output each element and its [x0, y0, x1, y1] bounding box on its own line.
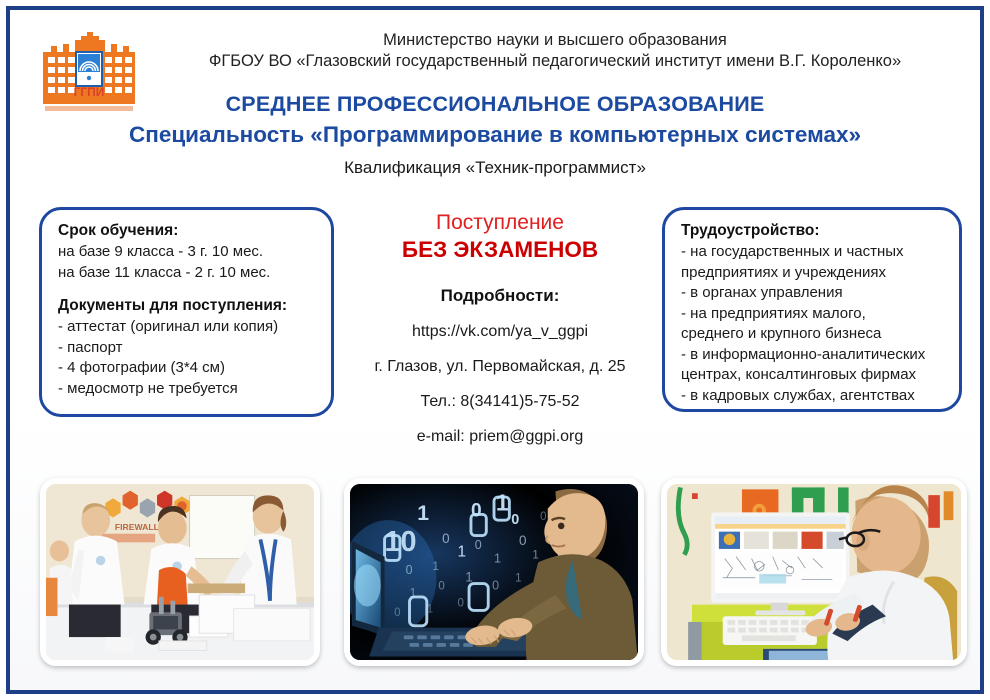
study-term-line: на базе 11 класса - 2 г. 10 мес. [58, 263, 317, 284]
documents-heading: Документы для поступления: [58, 297, 317, 315]
svg-text:0: 0 [442, 531, 449, 546]
poster-root: ГГПИ Министерство науки и высшего образо… [0, 0, 990, 700]
details-heading: Подробности: [350, 286, 650, 306]
employment-item: предприятиях и учреждениях [681, 263, 945, 284]
page-title: СРЕДНЕЕ ПРОФЕССИОНАЛЬНОЕ ОБРАЗОВАНИЕ [10, 92, 980, 117]
svg-text:0: 0 [511, 512, 519, 528]
svg-text:0: 0 [438, 580, 444, 592]
qualification-subtitle: Квалификация «Техник-программист» [10, 158, 980, 178]
svg-text:1: 1 [417, 502, 429, 525]
ministry-line-1: Министерство науки и высшего образования [150, 30, 960, 51]
employment-item: среднего и крупного бизнеса [681, 324, 945, 345]
study-info-box: Срок обучения: на базе 9 класса - 3 г. 1… [39, 207, 334, 417]
specialty-title: Специальность «Программирование в компью… [10, 122, 980, 148]
employment-item: - в кадровых службах, агентствах [681, 386, 945, 407]
phone-text: Тел.: 8(34141)5-75-52 [350, 393, 650, 411]
employment-item: - в органах управления [681, 283, 945, 304]
svg-text:0: 0 [471, 500, 482, 521]
svg-text:FIREWALL: FIREWALL [115, 522, 159, 532]
email-text[interactable]: e-mail: priem@ggpi.org [350, 428, 650, 446]
study-term-heading: Срок обучения: [58, 222, 317, 240]
document-item: - медосмотр не требуется [58, 379, 317, 400]
employment-item: - на предприятиях малого, [681, 304, 945, 325]
document-item: - паспорт [58, 338, 317, 359]
photo-programmer-binary: 1 10 0 1 0 0 1 0 1 0 1 0 1 1 0 [344, 478, 644, 666]
svg-text:1: 1 [496, 490, 509, 516]
study-term-line: на базе 9 класса - 3 г. 10 мес. [58, 242, 317, 263]
svg-text:0: 0 [475, 538, 482, 552]
document-item: - аттестат (оригинал или копия) [58, 317, 317, 338]
svg-text:0: 0 [458, 598, 464, 610]
employment-heading: Трудоустройство: [681, 222, 945, 240]
svg-text:1: 1 [532, 550, 538, 562]
ministry-line-2: ФГБОУ ВО «Глазовский государственный пед… [150, 51, 960, 72]
photo-strip: FIREWALL [10, 478, 980, 678]
admission-label: Поступление [350, 210, 650, 236]
photo-student-monitor [661, 478, 967, 666]
no-exams-label: БЕЗ ЭКЗАМЕНОВ [350, 236, 650, 264]
svg-text:1: 1 [494, 551, 501, 565]
svg-text:0: 0 [406, 563, 413, 577]
employment-item: - в информационно-аналитических [681, 345, 945, 366]
svg-text:1: 1 [458, 544, 467, 561]
svg-text:1: 1 [515, 573, 521, 585]
svg-text:0: 0 [492, 578, 499, 592]
photo-students-robotics: FIREWALL [40, 478, 320, 666]
address-text: г. Глазов, ул. Первомайская, д. 25 [350, 358, 650, 376]
svg-text:0: 0 [394, 607, 400, 619]
poster-header: ГГПИ Министерство науки и высшего образо… [10, 10, 980, 190]
svg-text:0: 0 [540, 511, 546, 523]
svg-text:1: 1 [465, 570, 472, 585]
svg-text:0: 0 [519, 533, 526, 548]
poster-frame: ГГПИ Министерство науки и высшего образо… [6, 6, 984, 694]
employment-info-box: Трудоустройство: - на государственных и … [662, 207, 962, 412]
employment-item: центрах, консалтинговых фирмах [681, 365, 945, 386]
ministry-block: Министерство науки и высшего образования… [150, 30, 960, 72]
vk-link[interactable]: https://vk.com/ya_v_ggpi [350, 323, 650, 341]
employment-item: - на государственных и частных [681, 242, 945, 263]
svg-text:1: 1 [433, 561, 439, 573]
admission-contact-block: Поступление БЕЗ ЭКЗАМЕНОВ Подробности: h… [350, 210, 650, 446]
document-item: - 4 фотографии (3*4 см) [58, 358, 317, 379]
